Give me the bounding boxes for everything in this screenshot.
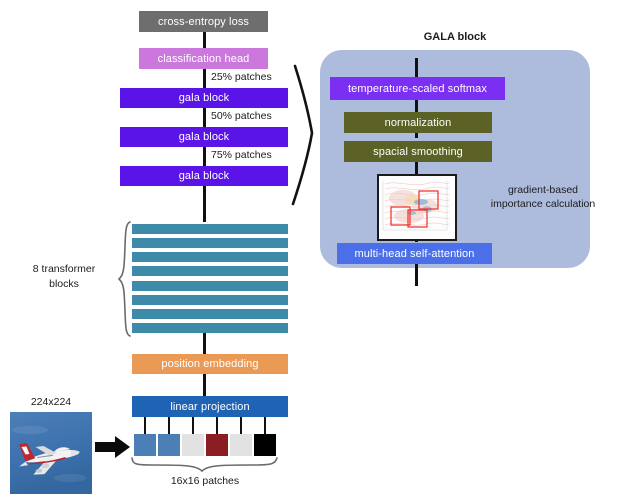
transformer-stack-label-line1: 8 transformer (14, 262, 114, 277)
transformer-block-bar (132, 281, 288, 291)
position-embedding-block: position embedding (132, 354, 288, 374)
panel-connector-bottom (415, 264, 418, 286)
transformer-block-bar (132, 224, 288, 234)
patch-square-4 (206, 434, 228, 456)
patch-square-1 (134, 434, 156, 456)
patch-stem-3 (192, 417, 194, 434)
gala-block-3: gala block (120, 166, 288, 186)
temperature-scaled-softmax-block: temperature-scaled softmax (330, 77, 505, 100)
patch-stem-2 (168, 417, 170, 434)
image-to-patches-arrow-icon (95, 436, 131, 458)
patch-square-2 (158, 434, 180, 456)
spacial-smoothing-block: spacial smoothing (344, 141, 492, 162)
transformer-block-bar (132, 309, 288, 319)
patch-note-75: 75% patches (211, 149, 272, 161)
patch-square-3 (182, 434, 204, 456)
patch-square-6 (254, 434, 276, 456)
importance-line-1: gradient-based (463, 183, 623, 197)
spine-gala2-to-gala3 (203, 147, 206, 166)
gala-to-panel-brace (288, 62, 328, 208)
patch-stem-1 (144, 417, 146, 434)
gala-panel-title: GALA block (381, 31, 529, 43)
patches-brace (130, 457, 280, 473)
input-image-airplane (10, 412, 92, 494)
transformer-stack-label-line2: blocks (14, 277, 114, 292)
patch-note-25: 25% patches (211, 71, 272, 83)
gradient-heatmap-thumbnail (377, 174, 457, 241)
patch-note-50: 50% patches (211, 110, 272, 122)
transformer-block-bar (132, 323, 288, 333)
transformer-block-bar (132, 295, 288, 305)
classification-head-block: classification head (139, 48, 268, 69)
input-image-size-label: 224x224 (10, 396, 92, 408)
gala-block-1: gala block (120, 88, 288, 108)
multi-head-self-attention-block: multi-head self-attention (337, 243, 492, 264)
gala-block-2: gala block (120, 127, 288, 147)
transformer-block-bar (132, 238, 288, 248)
patch-square-5 (230, 434, 252, 456)
patches-label: 16x16 patches (130, 475, 280, 487)
spine-head-to-gala1 (203, 69, 206, 88)
patch-stem-4 (216, 417, 218, 434)
diagram-canvas: GALA block temperature-scaled softmax no… (0, 0, 640, 496)
linear-projection-block: linear projection (132, 396, 288, 417)
cross-entropy-loss-block: cross-entropy loss (139, 11, 268, 32)
transformer-stack-label: 8 transformer blocks (14, 262, 114, 292)
spine-gala1-to-gala2 (203, 108, 206, 127)
importance-calculation-label: gradient-based importance calculation (463, 183, 623, 211)
transformer-block-bar (132, 252, 288, 262)
spine-transformers-to-posembed (203, 330, 206, 354)
patch-stem-5 (240, 417, 242, 434)
patch-stem-6 (264, 417, 266, 434)
spine-gala3-to-transformers (203, 186, 206, 222)
spine-posembed-to-linproj (203, 374, 206, 396)
importance-line-2: importance calculation (463, 197, 623, 211)
transformer-block-bar (132, 266, 288, 276)
panel-connector-3 (415, 160, 418, 174)
transformer-stack-brace (118, 220, 134, 338)
normalization-block: normalization (344, 112, 492, 133)
